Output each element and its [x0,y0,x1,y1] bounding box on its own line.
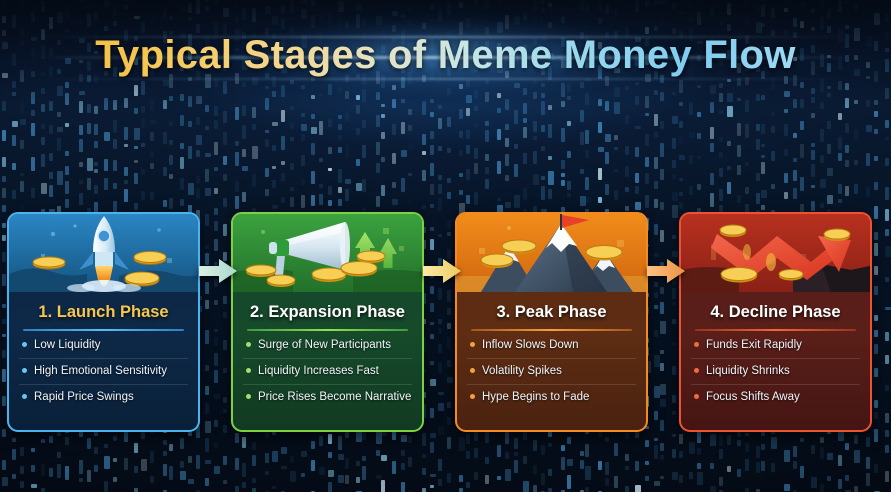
card-illustration-decline [681,214,870,292]
connector-arrow-3 [647,258,685,284]
bullet-dot-icon [470,342,475,347]
list-item: Volatility Spikes [467,364,636,385]
bullet-dot-icon [694,342,699,347]
bullet-dot-icon [470,394,475,399]
list-item: Liquidity Increases Fast [243,364,412,385]
title-underline [23,329,184,331]
list-item-label: Funds Exit Rapidly [706,339,802,351]
mountain-summit-flag-icon [457,214,646,292]
bullet-dot-icon [246,342,251,347]
bullet-dot-icon [694,368,699,373]
list-item: Funds Exit Rapidly [691,338,860,359]
stage-card-expansion[interactable]: 2. Expansion Phase Surge of New Particip… [231,212,424,432]
list-item-label: Inflow Slows Down [482,339,579,351]
list-item: Price Rises Become Narrative [243,390,412,410]
infographic-canvas: Typical Stages of Meme Money Flow [0,0,891,492]
list-item-label: High Emotional Sensitivity [34,365,167,377]
card-body: 4. Decline Phase Funds Exit Rapidly Liqu… [681,292,870,432]
title-underline [247,329,408,331]
list-item-label: Focus Shifts Away [706,391,800,403]
list-item-label: Liquidity Shrinks [706,365,790,377]
card-body: 3. Peak Phase Inflow Slows Down Volatili… [457,292,646,432]
stage-card-decline[interactable]: 4. Decline Phase Funds Exit Rapidly Liqu… [679,212,872,432]
card-illustration-megaphone [233,214,422,292]
bullet-dot-icon [246,394,251,399]
connector-arrow-2 [423,258,461,284]
list-item-label: Surge of New Participants [258,339,391,351]
title-underline [695,329,856,331]
list-item-label: Price Rises Become Narrative [258,391,411,403]
card-illustration-rocket [9,214,198,292]
list-item-label: Hype Begins to Fade [482,391,589,403]
bullet-dot-icon [470,368,475,373]
phase-title: 3. Peak Phase [467,300,636,324]
list-item-label: Liquidity Increases Fast [258,365,379,377]
bullet-dot-icon [694,394,699,399]
downward-arrow-icon [681,214,870,292]
connector-arrow-1 [199,258,237,284]
list-item: Surge of New Participants [243,338,412,359]
list-item: Rapid Price Swings [19,390,188,410]
list-item-label: Low Liquidity [34,339,100,351]
list-item: Hype Begins to Fade [467,390,636,410]
bullet-list: Inflow Slows Down Volatility Spikes Hype… [467,338,636,410]
bullet-list: Low Liquidity High Emotional Sensitivity… [19,338,188,410]
title-underline [471,329,632,331]
bullet-dot-icon [246,368,251,373]
bullet-dot-icon [22,368,27,373]
bullet-list: Surge of New Participants Liquidity Incr… [243,338,412,410]
list-item: High Emotional Sensitivity [19,364,188,385]
stage-card-peak[interactable]: 3. Peak Phase Inflow Slows Down Volatili… [455,212,648,432]
list-item: Liquidity Shrinks [691,364,860,385]
list-item: Inflow Slows Down [467,338,636,359]
list-item-label: Rapid Price Swings [34,391,134,403]
bullet-dot-icon [22,394,27,399]
megaphone-growth-icon [233,214,422,292]
card-illustration-mountain [457,214,646,292]
card-body: 1. Launch Phase Low Liquidity High Emoti… [9,292,198,432]
bullet-list: Funds Exit Rapidly Liquidity Shrinks Foc… [691,338,860,410]
bullet-dot-icon [22,342,27,347]
phase-title: 2. Expansion Phase [243,300,412,324]
phase-title: 1. Launch Phase [19,300,188,324]
page-title: Typical Stages of Meme Money Flow [0,32,891,78]
stages-row: 1. Launch Phase Low Liquidity High Emoti… [0,212,891,434]
light-streak [36,78,856,80]
list-item-label: Volatility Spikes [482,365,562,377]
list-item: Focus Shifts Away [691,390,860,410]
rocket-launch-icon [9,214,198,292]
list-item: Low Liquidity [19,338,188,359]
stage-card-launch[interactable]: 1. Launch Phase Low Liquidity High Emoti… [7,212,200,432]
card-body: 2. Expansion Phase Surge of New Particip… [233,292,422,432]
phase-title: 4. Decline Phase [691,300,860,324]
